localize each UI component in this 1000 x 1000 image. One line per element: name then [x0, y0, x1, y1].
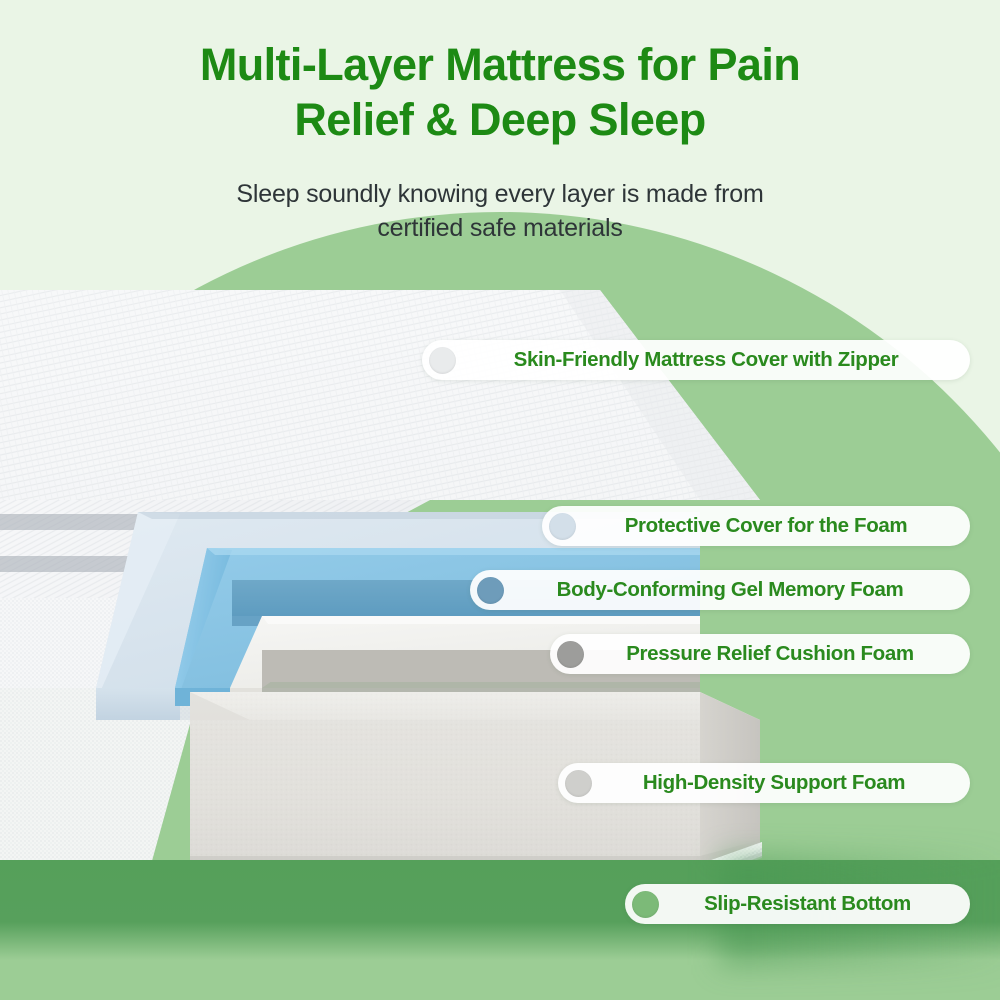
callout-support-foam-label: High-Density Support Foam: [592, 771, 944, 795]
callout-gel-memory-foam[interactable]: Body-Conforming Gel Memory Foam: [470, 570, 970, 610]
layer-dot-icon: [632, 891, 659, 918]
callout-cushion-foam-label: Pressure Relief Cushion Foam: [584, 642, 944, 666]
layer-dot-icon: [565, 770, 592, 797]
callout-cover[interactable]: Skin-Friendly Mattress Cover with Zipper: [422, 340, 970, 380]
callout-protective-cover-label: Protective Cover for the Foam: [576, 514, 944, 538]
callout-cushion-foam[interactable]: Pressure Relief Cushion Foam: [550, 634, 970, 674]
layer-dot-icon: [429, 347, 456, 374]
callout-protective-cover[interactable]: Protective Cover for the Foam: [542, 506, 970, 546]
layer-dot-icon: [557, 641, 584, 668]
page-title-line1: Multi-Layer Mattress for Pain: [0, 38, 1000, 93]
callout-slip-resistant-bottom[interactable]: Slip-Resistant Bottom: [625, 884, 970, 924]
page-subtitle-line1: Sleep soundly knowing every layer is mad…: [236, 180, 763, 208]
layer-dot-icon: [477, 577, 504, 604]
callout-support-foam[interactable]: High-Density Support Foam: [558, 763, 970, 803]
infographic-canvas: Multi-Layer Mattress for Pain Relief & D…: [0, 0, 1000, 1000]
page-title: Multi-Layer Mattress for Pain Relief & D…: [0, 38, 1000, 148]
page-subtitle-line2: certified safe materials: [0, 212, 1000, 246]
layer-dot-icon: [549, 513, 576, 540]
page-title-line2: Relief & Deep Sleep: [0, 93, 1000, 148]
callout-gel-memory-foam-label: Body-Conforming Gel Memory Foam: [504, 578, 944, 602]
page-subtitle: Sleep soundly knowing every layer is mad…: [0, 178, 1000, 245]
callout-cover-label: Skin-Friendly Mattress Cover with Zipper: [456, 348, 944, 372]
callout-slip-resistant-bottom-label: Slip-Resistant Bottom: [659, 892, 944, 916]
